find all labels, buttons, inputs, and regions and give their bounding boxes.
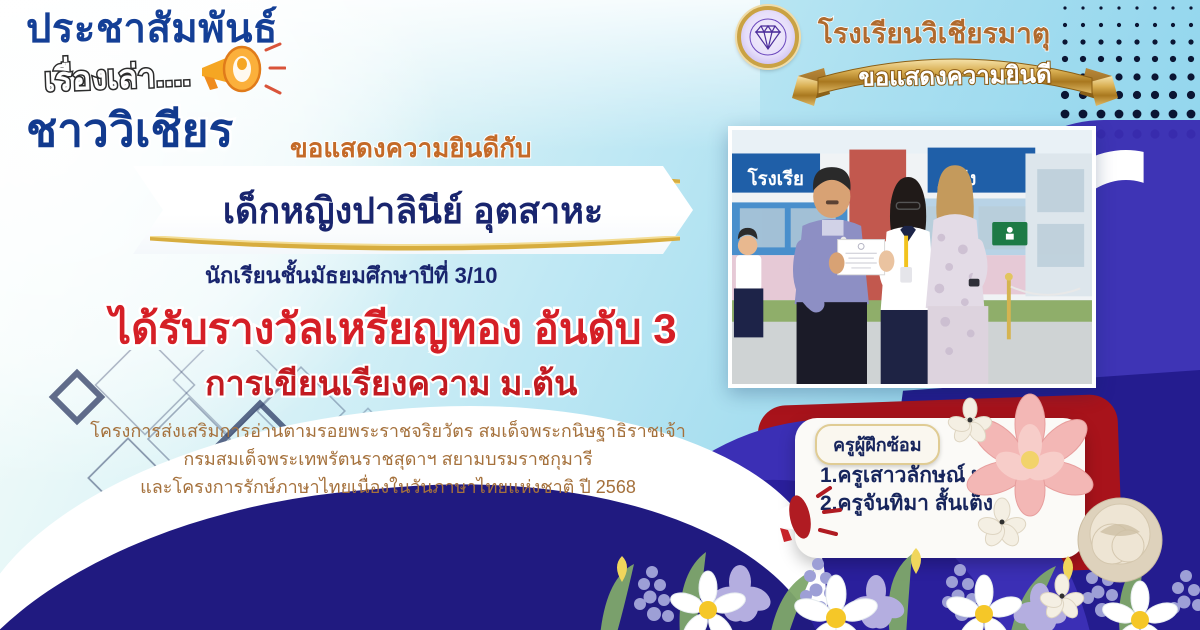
project-description: โครงการส่งเสริมการอ่านตามรอยพระราชจริยวั… (28, 418, 748, 502)
subtitle-story: เรื่องเล่า.... (43, 49, 192, 106)
megaphone-icon (770, 486, 850, 548)
award-category-text: การเขียนเรียงความ ม.ต้น (205, 356, 577, 410)
student-name: เด็กหญิงปาลินีย์ อุตสาหะ (223, 182, 604, 239)
congratulation-poster: ประชาสัมพันธ์ เรื่องเล่า.... ชาววิเชียร … (0, 0, 1200, 630)
teacher-item-2: 2.ครูจันทิมา สั้นเต็ง (820, 490, 1070, 518)
project-line-2: กรมสมเด็จพระเทพรัตนราชสุดาฯ สยามบรมราชกุ… (28, 446, 748, 474)
teacher-list: 1.ครูเสาวลักษณ์ หลักดี 2.ครูจันทิมา สั้น… (820, 462, 1070, 519)
student-name-ribbon: เด็กหญิงปาลินีย์ อุตสาหะ (133, 166, 693, 254)
project-line-3: และโครงการรักษ์ภาษาไทยเนื่องในวันภาษาไทย… (28, 474, 748, 502)
teacher-section-title: ครูผู้ฝึกซ้อม (815, 424, 940, 465)
teacher-item-1: 1.ครูเสาวลักษณ์ หลักดี (820, 462, 1070, 490)
school-congrat-ribbon-text: ขอแสดงความยินดี (790, 53, 1121, 98)
project-line-1: โครงการส่งเสริมการอ่านตามรอยพระราชจริยวั… (28, 418, 748, 446)
award-prize-text: ได้รับรางวัลเหรียญทอง อันดับ 3 (110, 296, 677, 362)
award-photo: โรงเรีย ตรัง (728, 126, 1096, 388)
svg-text:โรงเรีย: โรงเรีย (747, 167, 804, 190)
congrat-with-label: ขอแสดงความยินดีกับ (290, 128, 531, 169)
megaphone-icon (196, 38, 286, 100)
award-photo-illustration: โรงเรีย ตรัง (732, 130, 1092, 386)
diamond-emblem-icon (748, 17, 788, 57)
page-title: ประชาสัมพันธ์ (26, 8, 646, 50)
